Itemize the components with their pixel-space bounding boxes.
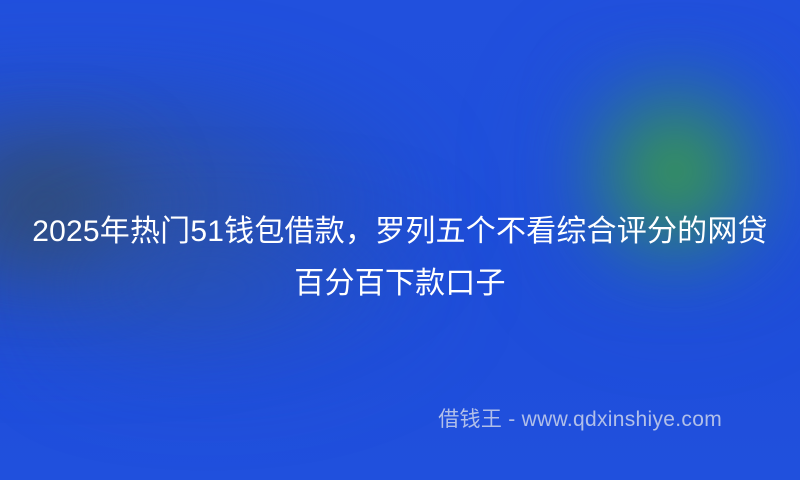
- site-watermark: 借钱王 - www.qdxinshiye.com: [438, 407, 722, 433]
- promo-banner: 2025年热门51钱包借款，罗列五个不看综合评分的网贷百分百下款口子 借钱王 -…: [0, 0, 800, 480]
- headline-title: 2025年热门51钱包借款，罗列五个不看综合评分的网贷百分百下款口子: [0, 206, 800, 310]
- banner-content: 2025年热门51钱包借款，罗列五个不看综合评分的网贷百分百下款口子 借钱王 -…: [0, 0, 800, 480]
